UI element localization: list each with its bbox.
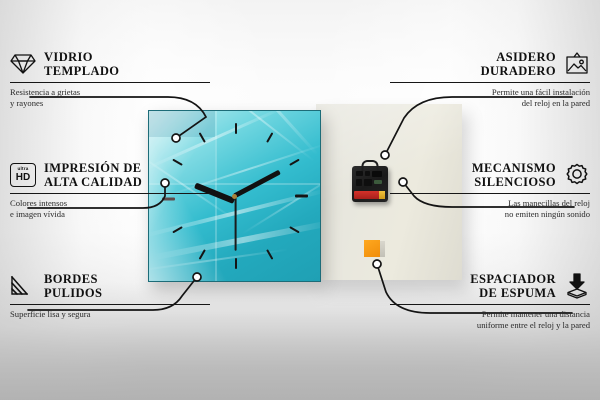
picture-frame-hanger-icon bbox=[564, 51, 590, 77]
mechanism-detail bbox=[356, 179, 362, 186]
mechanism-detail bbox=[356, 171, 363, 176]
feature-description-line1: Resistencia a grietas bbox=[10, 87, 210, 98]
feature-title: MECANISMO SILENCIOSO bbox=[472, 161, 556, 189]
hour-tick bbox=[235, 123, 237, 134]
feature-header: MECANISMO SILENCIOSO bbox=[390, 161, 590, 189]
mechanism-detail bbox=[365, 171, 370, 176]
feature-divider bbox=[390, 82, 590, 83]
battery-terminal bbox=[379, 191, 385, 199]
feature-description-line2: del reloj en la pared bbox=[390, 98, 590, 109]
clock-center-cap bbox=[232, 194, 237, 199]
feature-description-line2: no emiten ningún sonido bbox=[390, 209, 590, 220]
hour-tick bbox=[266, 249, 273, 260]
feature-header: ultra HD IMPRESIÓN DE ALTA CALIDAD bbox=[10, 161, 210, 189]
feature-description-line1: Permite mantener una distancia bbox=[390, 309, 590, 320]
feature-hd-print: ultra HD IMPRESIÓN DE ALTA CALIDAD Color… bbox=[10, 161, 210, 220]
feature-divider bbox=[10, 304, 210, 305]
feature-title: ESPACIADOR DE ESPUMA bbox=[470, 272, 556, 300]
feature-tempered-glass: VIDRIO TEMPLADO Resistencia a grietas y … bbox=[10, 50, 210, 109]
mechanism-hanger-hook bbox=[362, 160, 379, 171]
feature-header: BORDES PULIDOS bbox=[10, 272, 210, 300]
feature-title: VIDRIO TEMPLADO bbox=[44, 50, 119, 78]
feature-title: BORDES PULIDOS bbox=[44, 272, 102, 300]
minute-hand bbox=[232, 170, 280, 199]
feature-description-line2: e imagen vívida bbox=[10, 209, 210, 220]
ultra-hd-icon: ultra HD bbox=[10, 162, 36, 188]
feature-description-line1: Permite una fácil instalación bbox=[390, 87, 590, 98]
second-hand bbox=[235, 197, 237, 251]
feature-silent-mechanism: MECANISMO SILENCIOSO Las manecillas del … bbox=[390, 161, 590, 220]
hour-tick bbox=[198, 249, 205, 260]
feature-title: IMPRESIÓN DE ALTA CALIDAD bbox=[44, 161, 142, 189]
feature-header: ESPACIADOR DE ESPUMA bbox=[390, 272, 590, 300]
gear-icon bbox=[564, 162, 590, 188]
polished-edges-icon bbox=[10, 273, 36, 299]
hour-tick bbox=[172, 226, 183, 233]
feature-description-line1: Las manecillas del reloj bbox=[390, 198, 590, 209]
mechanism-detail bbox=[372, 171, 382, 177]
feature-description-line2: y rayones bbox=[10, 98, 210, 109]
feature-polished-edges: BORDES PULIDOS Superficie lisa y segura bbox=[10, 272, 210, 320]
feature-hanger: ASIDERO DURADERO Permite una fácil insta… bbox=[390, 50, 590, 109]
infographic-canvas: VIDRIO TEMPLADO Resistencia a grietas y … bbox=[0, 0, 600, 400]
feature-divider bbox=[10, 193, 210, 194]
quartz-mechanism bbox=[352, 166, 388, 202]
hour-tick bbox=[198, 132, 205, 143]
foam-spacer bbox=[364, 240, 380, 257]
mechanism-detail bbox=[374, 180, 382, 184]
hd-badge: ultra HD bbox=[10, 163, 36, 187]
feature-description-line1: Superficie lisa y segura bbox=[10, 309, 210, 320]
diamond-icon bbox=[10, 51, 36, 77]
hour-tick bbox=[289, 159, 300, 166]
feature-divider bbox=[390, 193, 590, 194]
feature-foam-spacer: ESPACIADOR DE ESPUMA Permite mantener un… bbox=[390, 272, 590, 331]
press-down-foam-icon bbox=[564, 273, 590, 299]
feature-header: ASIDERO DURADERO bbox=[390, 50, 590, 78]
mechanism-detail bbox=[364, 179, 372, 186]
hour-tick bbox=[295, 195, 308, 198]
hour-tick bbox=[289, 226, 300, 233]
feature-description-line2: uniforme entre el reloj y la pared bbox=[390, 320, 590, 331]
mechanism-battery bbox=[354, 191, 385, 199]
feature-title: ASIDERO DURADERO bbox=[481, 50, 556, 78]
feature-description-line1: Colores intensos bbox=[10, 198, 210, 209]
feature-divider bbox=[10, 82, 210, 83]
feature-header: VIDRIO TEMPLADO bbox=[10, 50, 210, 78]
hour-tick bbox=[266, 132, 273, 143]
hd-badge-hd-label: HD bbox=[16, 173, 30, 183]
feature-divider bbox=[390, 304, 590, 305]
hour-tick bbox=[235, 258, 237, 269]
